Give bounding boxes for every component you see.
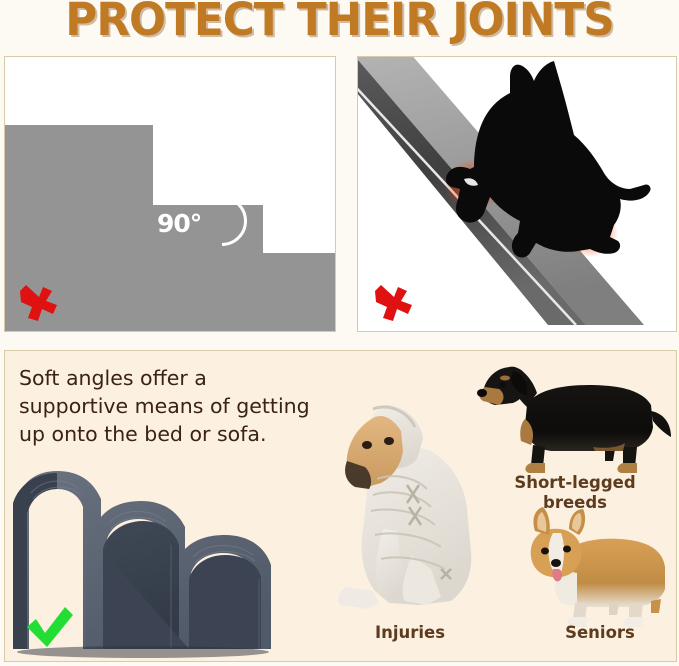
infographic-root: PROTECT THEIR JOINTS 90° [0, 0, 679, 666]
dachshund-photo [473, 361, 673, 480]
panel-soft-angle-solution: Soft angles offer a supportive means of … [4, 350, 677, 662]
body-text: Soft angles offer a supportive means of … [19, 365, 319, 449]
caption-seniors: Seniors [535, 623, 665, 643]
angle-label: 90° [157, 209, 201, 238]
caption-line-1: Short-legged [514, 473, 635, 492]
panel-hard-angle-stairs: 90° [4, 56, 336, 332]
page-title: PROTECT THEIR JOINTS [10, 0, 669, 46]
corgi-photo [511, 503, 677, 637]
caption-injuries: Injuries [335, 623, 485, 643]
panel-steep-ramp [357, 56, 677, 332]
stair-block-top [261, 253, 336, 332]
green-check-icon [21, 601, 77, 651]
red-x-icon [368, 279, 416, 327]
red-x-icon [13, 279, 61, 327]
